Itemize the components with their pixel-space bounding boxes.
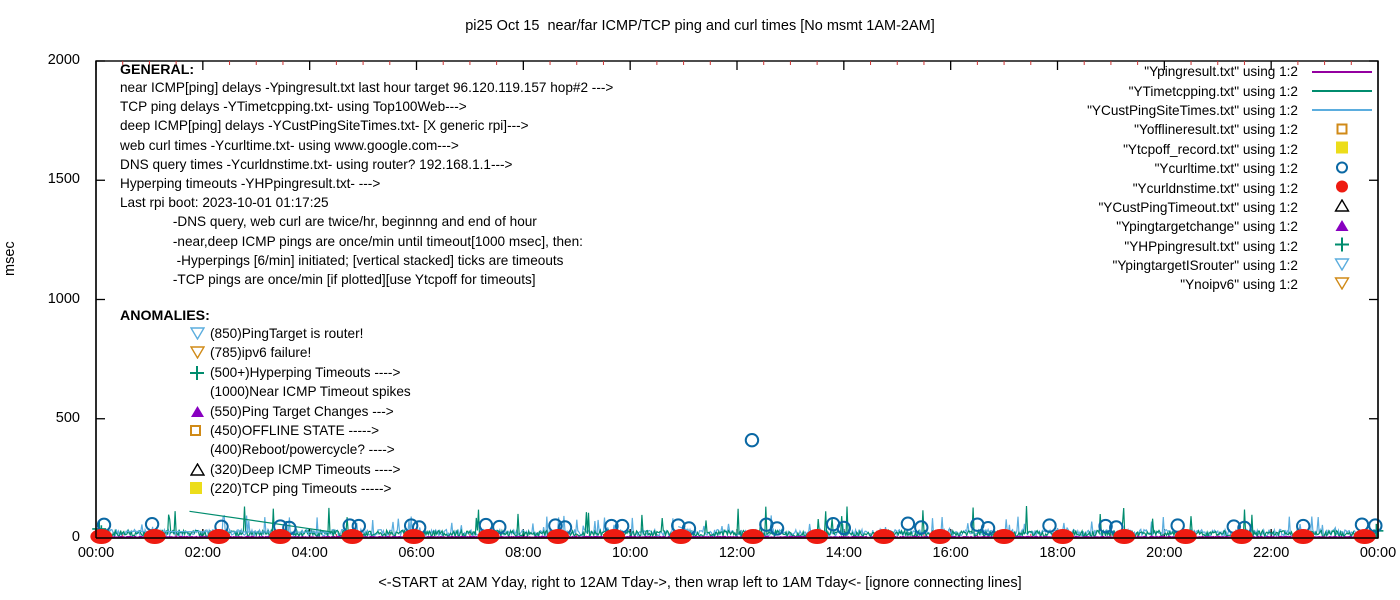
x-tick-label: 22:00 — [1236, 546, 1306, 561]
legend-row[interactable]: "YCustPingTimeout.txt" using 1:2 — [1087, 198, 1378, 217]
legend-label: "YTimetcpping.txt" using 1:2 — [1129, 84, 1298, 99]
x-tick-label: 18:00 — [1023, 546, 1093, 561]
x-tick-label: 14:00 — [809, 546, 879, 561]
anomaly-marker-plus-icon — [190, 366, 208, 383]
anomaly-legend-row: (320)Deep ICMP Timeouts ----> — [120, 462, 411, 481]
general-note-line: -Hyperpings [6/min] initiated; [vertical… — [120, 253, 613, 272]
anomaly-marker-triangle-up-open-icon — [190, 463, 208, 480]
anomaly-marker-none-icon — [190, 385, 208, 402]
anomaly-label: (450)OFFLINE STATE -----> — [210, 423, 379, 438]
legend-symbol-circle-filled-icon — [1306, 179, 1378, 197]
legend-label: "Ytcpoff_record.txt" using 1:2 — [1123, 142, 1298, 157]
general-note-line: -near,deep ICMP pings are once/min until… — [120, 234, 613, 253]
legend-row[interactable]: "Ypingtargetchange" using 1:2 — [1087, 217, 1378, 236]
legend: "Ypingresult.txt" using 1:2"YTimetcpping… — [1087, 62, 1378, 295]
anomaly-marker-triangle-down-open-icon — [190, 327, 208, 344]
anomaly-legend-row: (1000)Near ICMP Timeout spikes — [120, 384, 411, 403]
x-tick-label: 04:00 — [275, 546, 345, 561]
y-tick-label: 0 — [28, 530, 80, 545]
anomaly-label: (850)PingTarget is router! — [210, 326, 363, 341]
anomaly-legend-row: (500+)Hyperping Timeouts ----> — [120, 365, 411, 384]
general-heading: GENERAL: — [120, 62, 613, 78]
x-tick-label: 08:00 — [488, 546, 558, 561]
anomaly-marker-square-filled-icon — [190, 482, 208, 499]
x-tick-label: 20:00 — [1129, 546, 1199, 561]
y-tick-label: 500 — [28, 411, 80, 426]
anomaly-marker-triangle-up-filled-icon — [190, 405, 208, 422]
anomalies-heading: ANOMALIES: — [120, 308, 411, 324]
anomaly-marker-none-icon — [190, 443, 208, 460]
legend-row[interactable]: "Yofflineresult.txt" using 1:2 — [1087, 120, 1378, 139]
legend-row[interactable]: "YTimetcpping.txt" using 1:2 — [1087, 81, 1378, 100]
legend-label: "Ynoipv6" using 1:2 — [1180, 277, 1298, 292]
plot-canvas: pi25 Oct 15 near/far ICMP/TCP ping and c… — [0, 0, 1400, 600]
legend-row[interactable]: "Ynoipv6" using 1:2 — [1087, 275, 1378, 294]
y-tick-label: 1000 — [28, 292, 80, 307]
anomaly-legend-row: (550)Ping Target Changes ---> — [120, 404, 411, 423]
y-axis-label: msec — [2, 241, 18, 276]
x-tick-label: 12:00 — [702, 546, 772, 561]
x-axis-caption: <-START at 2AM Yday, right to 12AM Tday-… — [0, 576, 1400, 591]
general-note-line: -TCP pings are once/min [if plotted][use… — [120, 272, 613, 291]
anomaly-label: (1000)Near ICMP Timeout spikes — [210, 384, 411, 399]
legend-symbol-line-icon — [1306, 101, 1378, 119]
general-note-line: near ICMP[ping] delays -Ypingresult.txt … — [120, 80, 613, 99]
legend-row[interactable]: "YHPpingresult.txt" using 1:2 — [1087, 237, 1378, 256]
anomaly-label: (320)Deep ICMP Timeouts ----> — [210, 462, 401, 477]
anomaly-label: (220)TCP ping Timeouts -----> — [210, 481, 391, 496]
anomaly-marker-square-open-icon — [190, 424, 208, 441]
general-notes-block: GENERAL: near ICMP[ping] delays -Ypingre… — [120, 62, 613, 291]
legend-row[interactable]: "Ypingresult.txt" using 1:2 — [1087, 62, 1378, 81]
legend-label: "Ypingtargetchange" using 1:2 — [1116, 219, 1298, 234]
legend-symbol-line-icon — [1306, 63, 1378, 81]
legend-row[interactable]: "YCustPingSiteTimes.txt" using 1:2 — [1087, 101, 1378, 120]
y-tick-label: 1500 — [28, 172, 80, 187]
anomaly-label: (400)Reboot/powercycle? ----> — [210, 442, 395, 457]
anomaly-label: (785)ipv6 failure! — [210, 345, 311, 360]
general-note-line: Last rpi boot: 2023-10-01 01:17:25 — [120, 195, 613, 214]
x-tick-label: 00:00 — [61, 546, 131, 561]
general-note-line: DNS query times -Ycurldnstime.txt- using… — [120, 157, 613, 176]
legend-row[interactable]: "YpingtargetISrouter" using 1:2 — [1087, 256, 1378, 275]
anomaly-label: (500+)Hyperping Timeouts ----> — [210, 365, 400, 380]
legend-label: "YCustPingSiteTimes.txt" using 1:2 — [1087, 103, 1298, 118]
x-tick-label: 06:00 — [382, 546, 452, 561]
general-note-line: deep ICMP[ping] delays -YCustPingSiteTim… — [120, 118, 613, 137]
legend-label: "YHPpingresult.txt" using 1:2 — [1124, 239, 1298, 254]
anomaly-legend-row: (450)OFFLINE STATE -----> — [120, 423, 411, 442]
anomaly-label: (550)Ping Target Changes ---> — [210, 404, 394, 419]
legend-symbol-line-icon — [1306, 82, 1378, 100]
x-tick-label: 10:00 — [595, 546, 665, 561]
legend-symbol-plus-icon — [1306, 237, 1378, 255]
anomalies-notes-block: ANOMALIES: (850)PingTarget is router!(78… — [120, 308, 411, 501]
legend-symbol-triangle-down-open-icon — [1306, 257, 1378, 275]
legend-label: "YCustPingTimeout.txt" using 1:2 — [1098, 200, 1298, 215]
legend-row[interactable]: "Ycurldnstime.txt" using 1:2 — [1087, 178, 1378, 197]
legend-symbol-triangle-up-open-icon — [1306, 198, 1378, 216]
anomaly-legend-row: (220)TCP ping Timeouts -----> — [120, 481, 411, 500]
legend-label: "Yofflineresult.txt" using 1:2 — [1134, 122, 1298, 137]
legend-row[interactable]: "Ycurltime.txt" using 1:2 — [1087, 159, 1378, 178]
legend-symbol-square-open-icon — [1306, 121, 1378, 139]
anomaly-marker-triangle-down-open-icon — [190, 346, 208, 363]
x-tick-label: 16:00 — [916, 546, 986, 561]
general-note-line: web curl times -Ycurltime.txt- using www… — [120, 138, 613, 157]
x-tick-label: 00:00 — [1343, 546, 1400, 561]
legend-symbol-triangle-down-open-icon — [1306, 276, 1378, 294]
legend-symbol-triangle-up-filled-icon — [1306, 218, 1378, 236]
anomaly-legend-row: (400)Reboot/powercycle? ----> — [120, 442, 411, 461]
chart-title: pi25 Oct 15 near/far ICMP/TCP ping and c… — [0, 19, 1400, 34]
general-note-line: Hyperping timeouts -YHPpingresult.txt- -… — [120, 176, 613, 195]
y-tick-label: 2000 — [28, 53, 80, 68]
general-note-line: TCP ping delays -YTimetcpping.txt- using… — [120, 99, 613, 118]
x-tick-label: 02:00 — [168, 546, 238, 561]
legend-label: "Ypingresult.txt" using 1:2 — [1144, 64, 1298, 79]
anomaly-legend-row: (850)PingTarget is router! — [120, 326, 411, 345]
anomaly-legend-row: (785)ipv6 failure! — [120, 345, 411, 364]
legend-symbol-circle-open-icon — [1306, 160, 1378, 178]
legend-row[interactable]: "Ytcpoff_record.txt" using 1:2 — [1087, 140, 1378, 159]
legend-symbol-square-filled-icon — [1306, 140, 1378, 158]
general-note-line: -DNS query, web curl are twice/hr, begin… — [120, 214, 613, 233]
legend-label: "Ycurldnstime.txt" using 1:2 — [1133, 181, 1298, 196]
legend-label: "Ycurltime.txt" using 1:2 — [1155, 161, 1298, 176]
legend-label: "YpingtargetISrouter" using 1:2 — [1113, 258, 1298, 273]
